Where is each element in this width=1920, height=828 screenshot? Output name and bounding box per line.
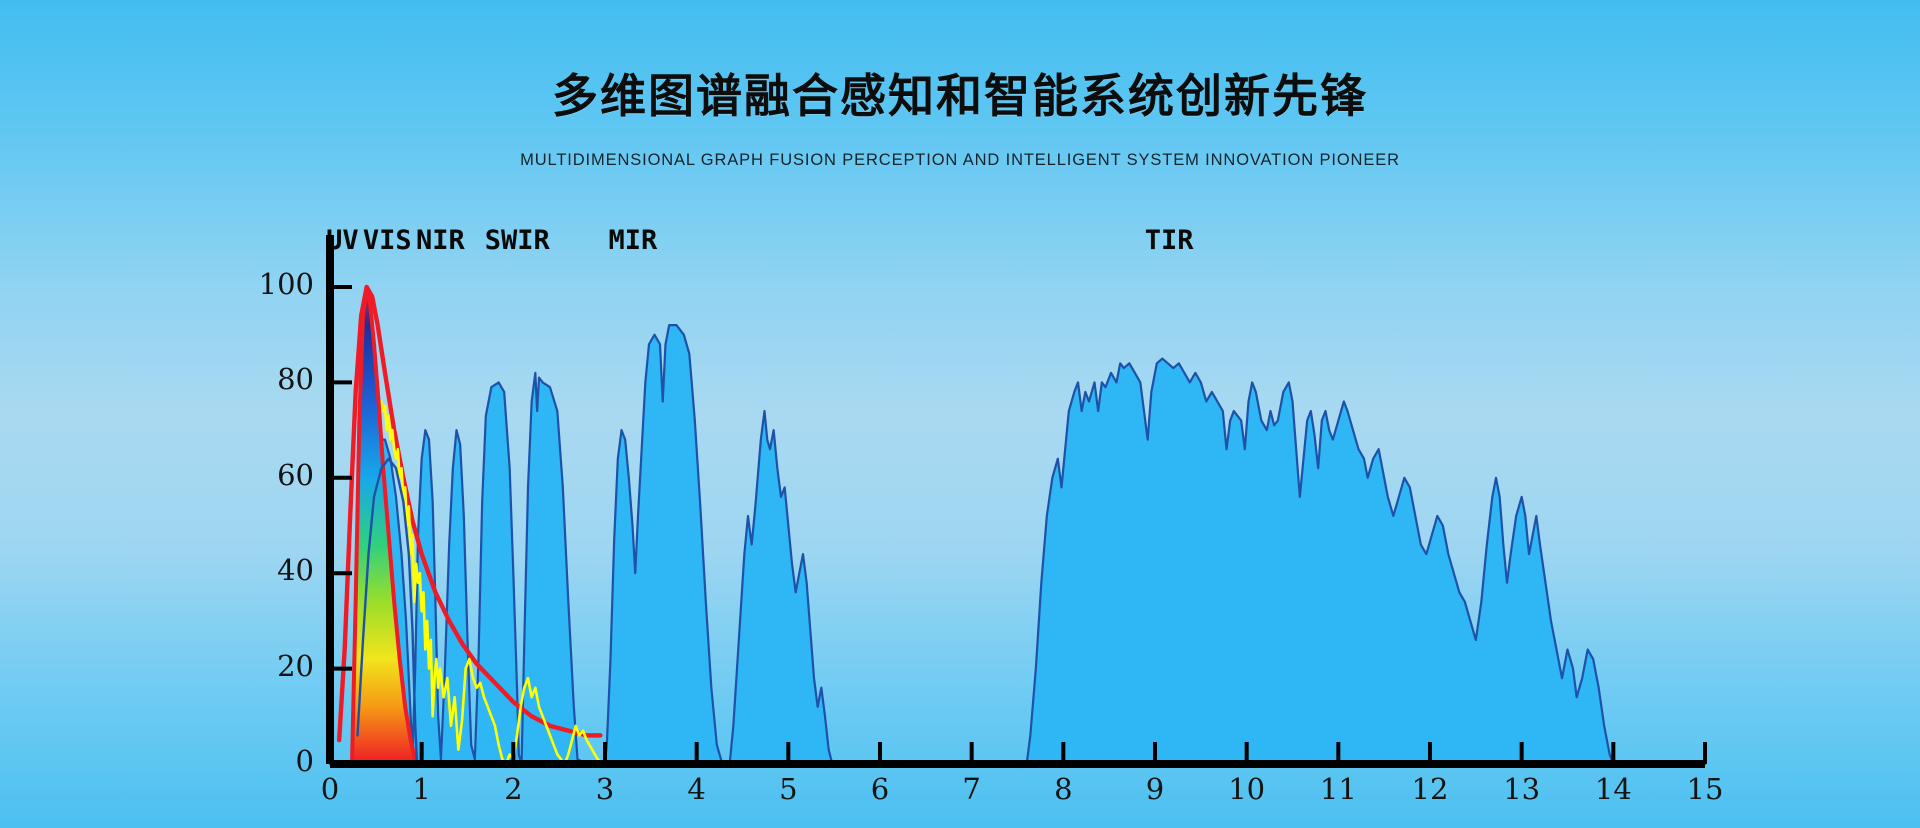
x-axis-label: 3 bbox=[575, 772, 635, 806]
x-axis-label: 13 bbox=[1492, 772, 1552, 806]
y-axis-label: 20 bbox=[244, 649, 314, 683]
x-axis-label: 12 bbox=[1400, 772, 1460, 806]
x-axis-label: 11 bbox=[1308, 772, 1368, 806]
x-axis-label: 8 bbox=[1033, 772, 1093, 806]
y-axis-label: 100 bbox=[244, 267, 314, 301]
x-axis-label: 14 bbox=[1583, 772, 1643, 806]
x-axis-label: 15 bbox=[1675, 772, 1735, 806]
y-axis-label: 80 bbox=[244, 362, 314, 396]
y-axis-label: 60 bbox=[244, 458, 314, 492]
chart-plot-area bbox=[330, 235, 1705, 764]
y-axis-label: 40 bbox=[244, 553, 314, 587]
x-axis-label: 2 bbox=[483, 772, 543, 806]
x-axis-label: 5 bbox=[758, 772, 818, 806]
x-axis-label: 6 bbox=[850, 772, 910, 806]
x-axis-label: 9 bbox=[1125, 772, 1185, 806]
x-axis-label: 0 bbox=[300, 772, 360, 806]
x-axis-label: 10 bbox=[1217, 772, 1277, 806]
spectrum-chart bbox=[0, 0, 1920, 828]
x-axis-label: 7 bbox=[942, 772, 1002, 806]
x-axis-label: 4 bbox=[667, 772, 727, 806]
x-axis-label: 1 bbox=[392, 772, 452, 806]
chart-page: 多维图谱融合感知和智能系统创新先锋 MULTIDIMENSIONAL GRAPH… bbox=[0, 0, 1920, 828]
